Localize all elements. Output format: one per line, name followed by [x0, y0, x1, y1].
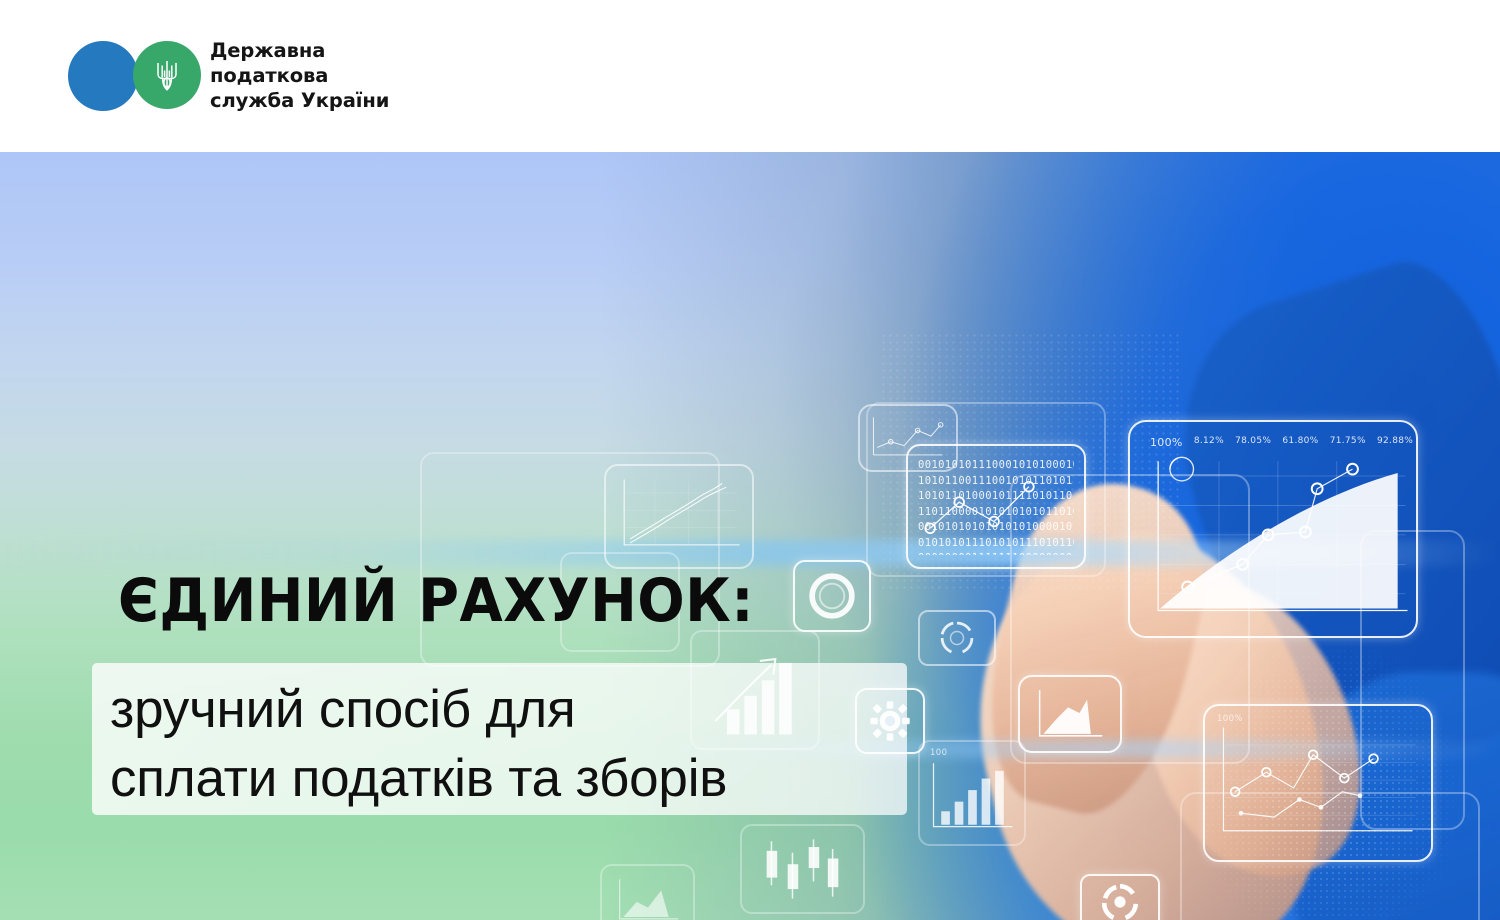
- blue-circle-icon: [68, 41, 138, 111]
- hero-banner: 0010101011100010101000101010111000101010…: [0, 152, 1500, 920]
- candlestick-chart-icon: [740, 824, 865, 914]
- aperture-icon: [793, 560, 871, 632]
- page-title: ЄДИНИЙ РАХУНОК:: [118, 570, 754, 632]
- percent-label-row: 100% 8.12% 78.05% 61.80% 71.75% 92.88%: [1150, 436, 1413, 449]
- page-subtitle: зручний спосіб для сплати податків та зб…: [110, 675, 910, 813]
- green-circle-icon: [133, 41, 201, 109]
- bar-chart-label: 100: [930, 748, 947, 758]
- pct-0: 100%: [1150, 436, 1183, 449]
- agency-name-text: Державна податкова служба України: [210, 38, 389, 113]
- pct-2: 78.05%: [1235, 436, 1271, 449]
- ukrainian-trident-icon: [154, 57, 180, 93]
- pct-5: 92.88%: [1377, 436, 1413, 449]
- agency-logo[interactable]: Державна податкова служба України: [68, 38, 389, 113]
- logo-circles: [68, 41, 196, 111]
- pct-1: 8.12%: [1194, 436, 1224, 449]
- header-bar: Державна податкова служба України: [0, 0, 1500, 152]
- pct-3: 61.80%: [1282, 436, 1318, 449]
- bar-chart-icon: 100: [918, 740, 1026, 846]
- connector-frame-bottom: [1180, 792, 1480, 920]
- poster-root: Державна податкова служба України: [0, 0, 1500, 920]
- pie-segment-icon: [1080, 874, 1160, 920]
- circular-progress-icon: [918, 610, 996, 666]
- connector-frame-top: [866, 402, 1106, 577]
- area-chart-small-icon: [600, 864, 695, 920]
- pct-4: 71.75%: [1330, 436, 1366, 449]
